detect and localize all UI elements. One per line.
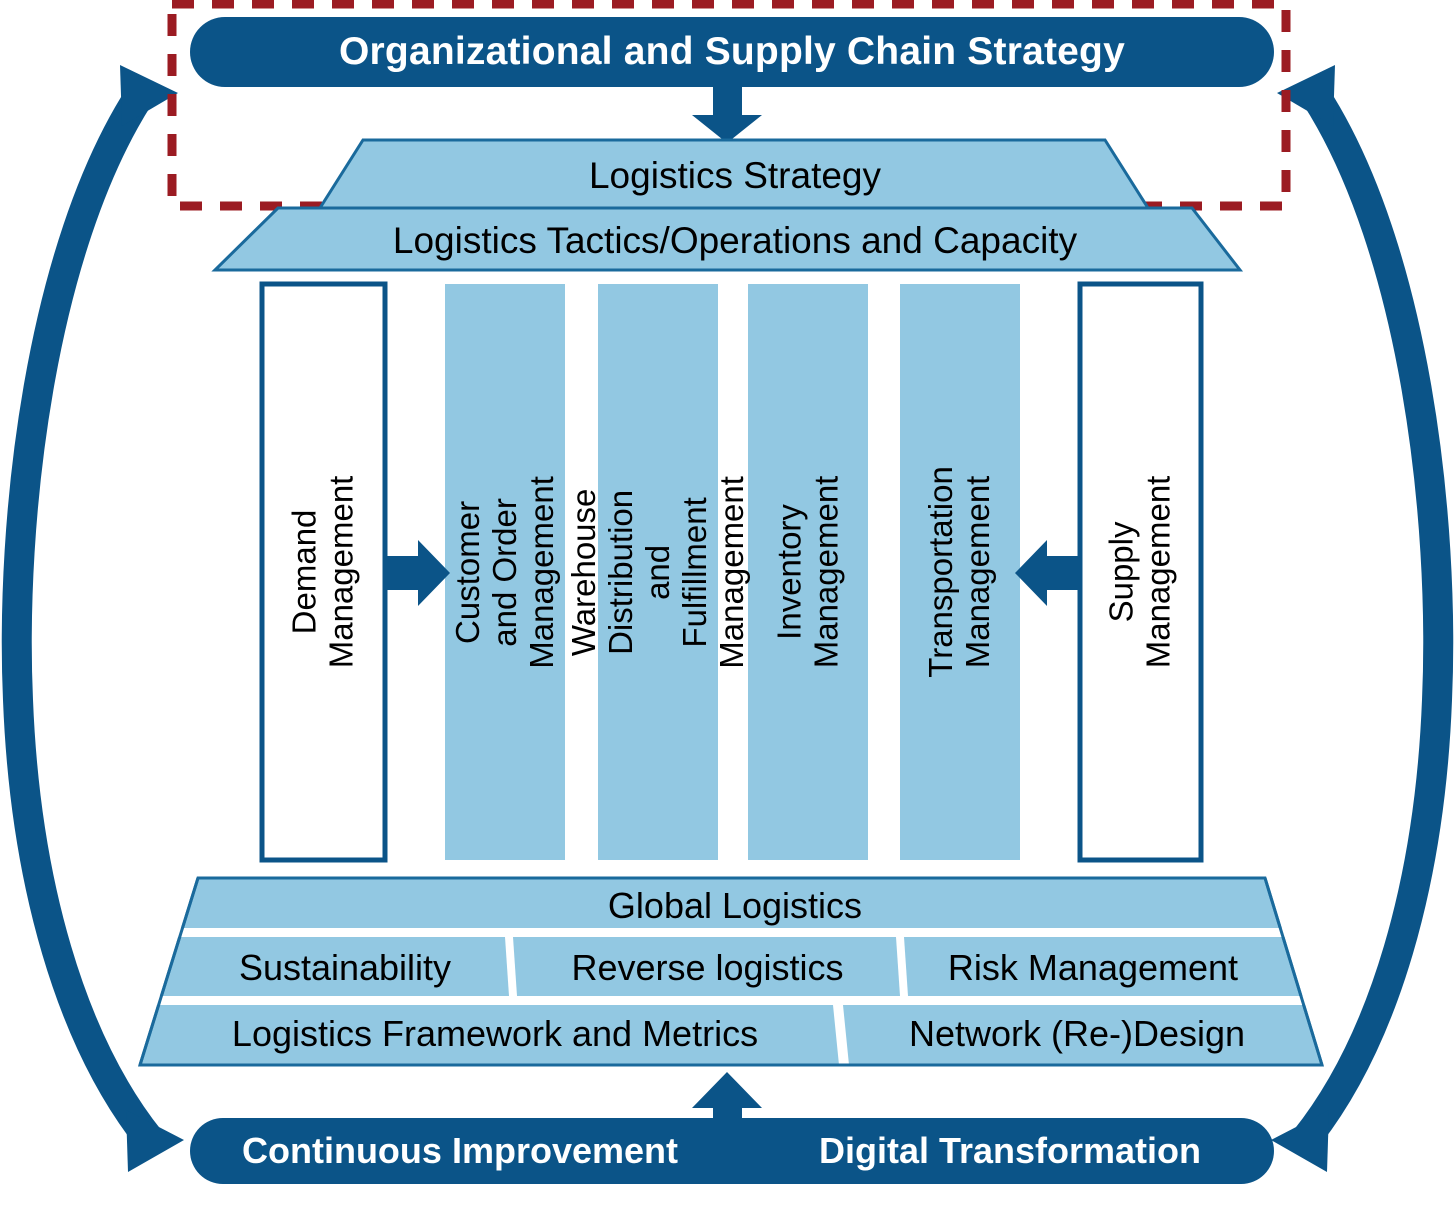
column-customer-and-order-management bbox=[445, 284, 565, 860]
right-arrow-demand-to-customer bbox=[385, 540, 450, 606]
column-supply-management bbox=[1080, 284, 1201, 860]
down-arrow-strategy-to-logistics bbox=[692, 86, 762, 143]
foundation-outer-trapezoid bbox=[140, 878, 1322, 1065]
column-demand-management bbox=[262, 284, 385, 860]
bottom-pill-shape bbox=[190, 1118, 1274, 1184]
column-inventory-management bbox=[748, 284, 868, 860]
column-transportation-management bbox=[900, 284, 1020, 860]
logistics-tactics-trapezoid bbox=[215, 208, 1240, 270]
left-arrow-supply-to-transportation bbox=[1015, 540, 1080, 606]
strategy-pill-shape bbox=[190, 17, 1274, 87]
diagram-canvas: Organizational and Supply Chain Strategy… bbox=[0, 0, 1455, 1212]
column-warehouse-distribution-and-fulfillment-management bbox=[598, 284, 718, 860]
diagram-shapes-layer bbox=[0, 0, 1455, 1212]
logistics-strategy-trapezoid bbox=[320, 140, 1148, 208]
